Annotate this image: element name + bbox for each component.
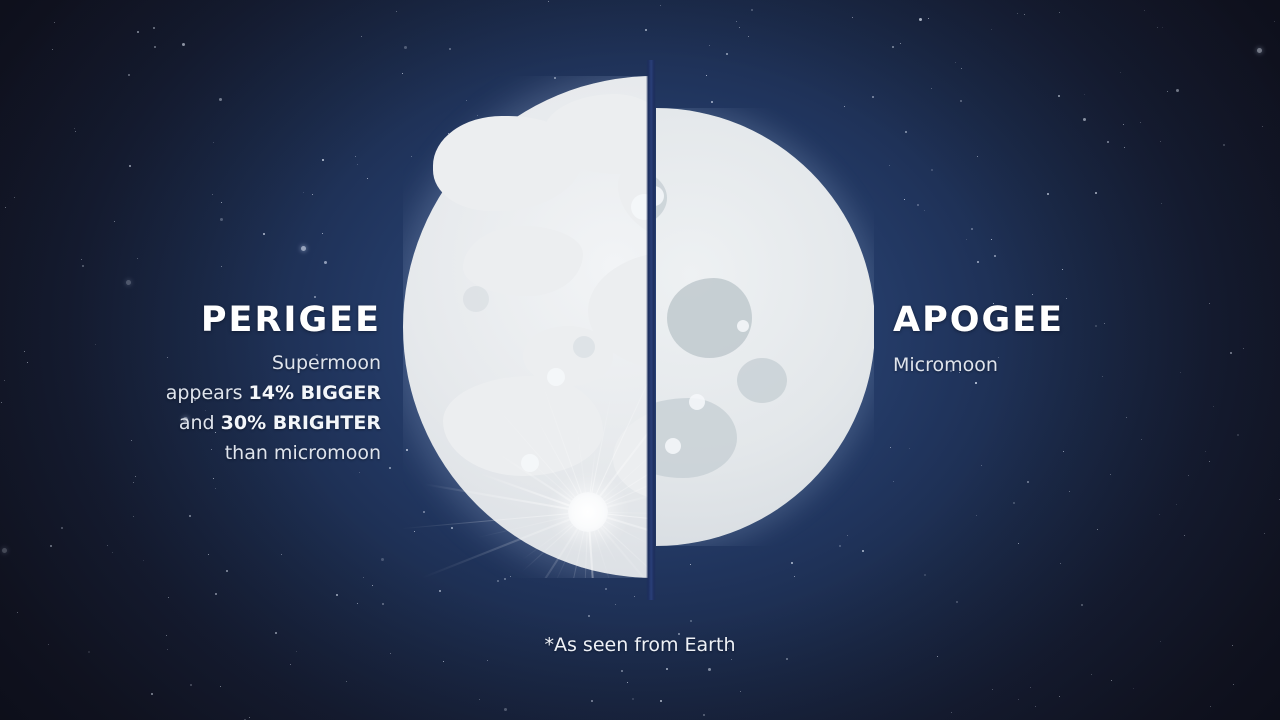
infographic-stage: PERIGEE Supermoon appears 14% BIGGER and… [0,0,1280,720]
perigee-line-1: Supermoon [166,348,381,378]
perigee-line-2: appears 14% BIGGER [166,378,381,408]
apogee-line-1: Micromoon [893,350,1064,380]
apogee-label-group: APOGEE Micromoon [893,303,1064,380]
perigee-description: Supermoon appears 14% BIGGER and 30% BRI… [166,348,381,468]
apogee-description: Micromoon [893,350,1064,380]
perigee-label-group: PERIGEE Supermoon appears 14% BIGGER and… [166,303,381,468]
perigee-line-3: and 30% BRIGHTER [166,408,381,438]
perigee-line-4: than micromoon [166,438,381,468]
footnote-text: *As seen from Earth [0,634,1280,656]
perigee-title: PERIGEE [166,303,381,338]
apogee-title: APOGEE [893,303,1064,338]
